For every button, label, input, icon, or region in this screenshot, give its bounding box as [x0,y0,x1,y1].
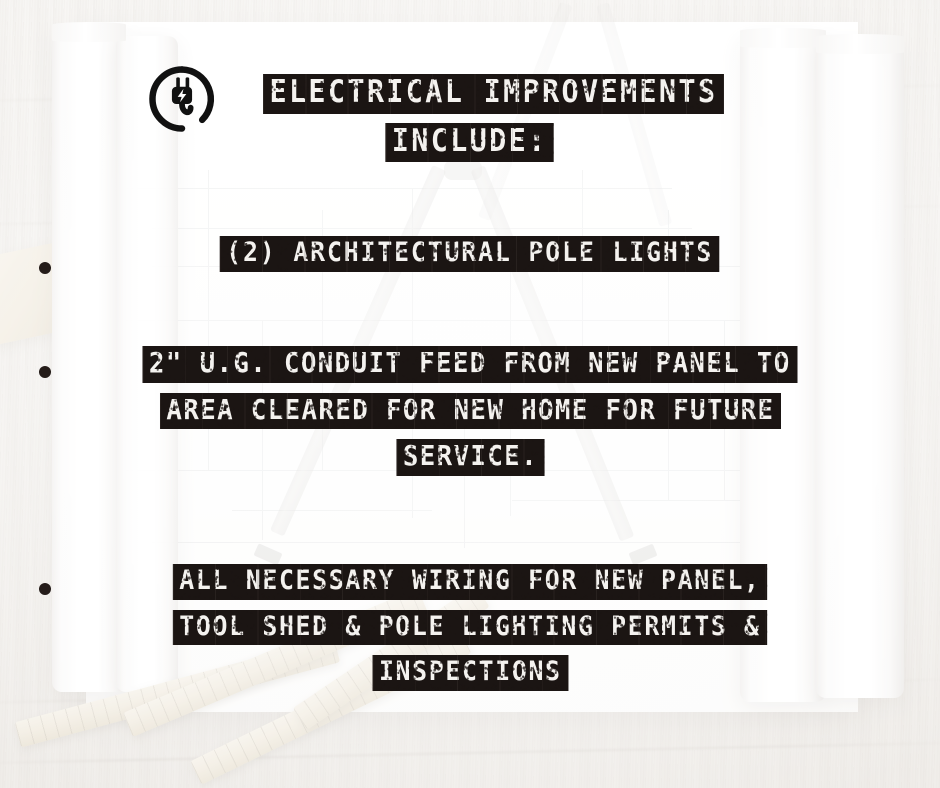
list-item: 2" U.G. CONDUIT FEED FROM NEW PANEL TO A… [0,346,940,476]
header-block: ELECTRICAL IMPROVEMENTS INCLUDE: [0,74,940,162]
text-line: TOOL SHED & POLE LIGHTING PERMITS & [0,610,940,646]
bullet-3-line-1: ALL NECESSARY WIRING FOR NEW PANEL, [173,564,767,600]
poster-content: ELECTRICAL IMPROVEMENTS INCLUDE: (2) ARC… [0,0,940,788]
bullet-2-line-2: AREA CLEARED FOR NEW HOME FOR FUTURE [160,393,781,430]
bullet-3-line-2: TOOL SHED & POLE LIGHTING PERMITS & [173,610,767,646]
bullet-dot-icon [39,583,51,595]
list-item-text: (2) ARCHITECTURAL POLE LIGHTS [0,236,940,272]
list-item: ALL NECESSARY WIRING FOR NEW PANEL, TOOL… [0,564,940,691]
text-line: AREA CLEARED FOR NEW HOME FOR FUTURE [0,393,940,430]
bullet-3-line-3: INSPECTIONS [372,655,568,691]
poster-canvas: ELECTRICAL IMPROVEMENTS INCLUDE: (2) ARC… [0,0,940,788]
list-item: (2) ARCHITECTURAL POLE LIGHTS [0,236,940,272]
header-line-1-wrapper: ELECTRICAL IMPROVEMENTS [0,74,940,114]
list-item-text: 2" U.G. CONDUIT FEED FROM NEW PANEL TO A… [0,346,940,476]
header-title-line-2: INCLUDE: [386,123,555,163]
text-line: (2) ARCHITECTURAL POLE LIGHTS [0,236,940,272]
list-item-text: ALL NECESSARY WIRING FOR NEW PANEL, TOOL… [0,564,940,691]
electrical-plug-icon [146,63,218,135]
bullet-2-line-1: 2" U.G. CONDUIT FEED FROM NEW PANEL TO [143,346,798,383]
text-line: SERVICE. [0,439,940,476]
bullet-dot-icon [39,366,51,378]
text-line: 2" U.G. CONDUIT FEED FROM NEW PANEL TO [0,346,940,383]
header-title-line-1: ELECTRICAL IMPROVEMENTS [263,74,724,114]
bullet-dot-icon [39,262,51,274]
bullet-1-line-1: (2) ARCHITECTURAL POLE LIGHTS [220,236,720,272]
text-line: ALL NECESSARY WIRING FOR NEW PANEL, [0,564,940,600]
header-line-2-wrapper: INCLUDE: [0,123,940,163]
bullet-2-line-3: SERVICE. [396,439,544,476]
text-line: INSPECTIONS [0,655,940,691]
